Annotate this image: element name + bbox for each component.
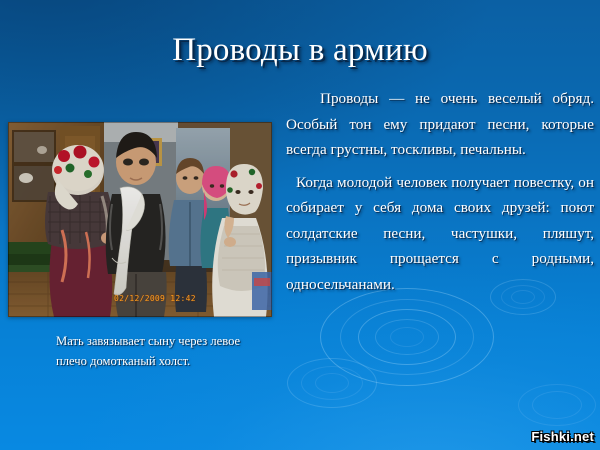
photo-caption: Мать завязывает сыну через левое плечо д… [56, 331, 271, 371]
body-paragraph-2: Когда молодой человек получает повестку,… [286, 170, 594, 298]
presentation-slide: Проводы в армию Проводы — не очень весел… [0, 0, 600, 450]
photo-illustration [8, 122, 272, 317]
slide-body-text: Проводы — не очень веселый обряд. Особый… [286, 86, 594, 304]
slide-photo: 02/12/2009 12:42 [8, 122, 272, 317]
slide-title: Проводы в армию [0, 30, 600, 70]
body-paragraph-1: Проводы — не очень веселый обряд. Особый… [286, 86, 594, 163]
site-watermark: Fishki.net [531, 429, 594, 444]
photo-timestamp: 02/12/2009 12:42 [114, 294, 196, 303]
